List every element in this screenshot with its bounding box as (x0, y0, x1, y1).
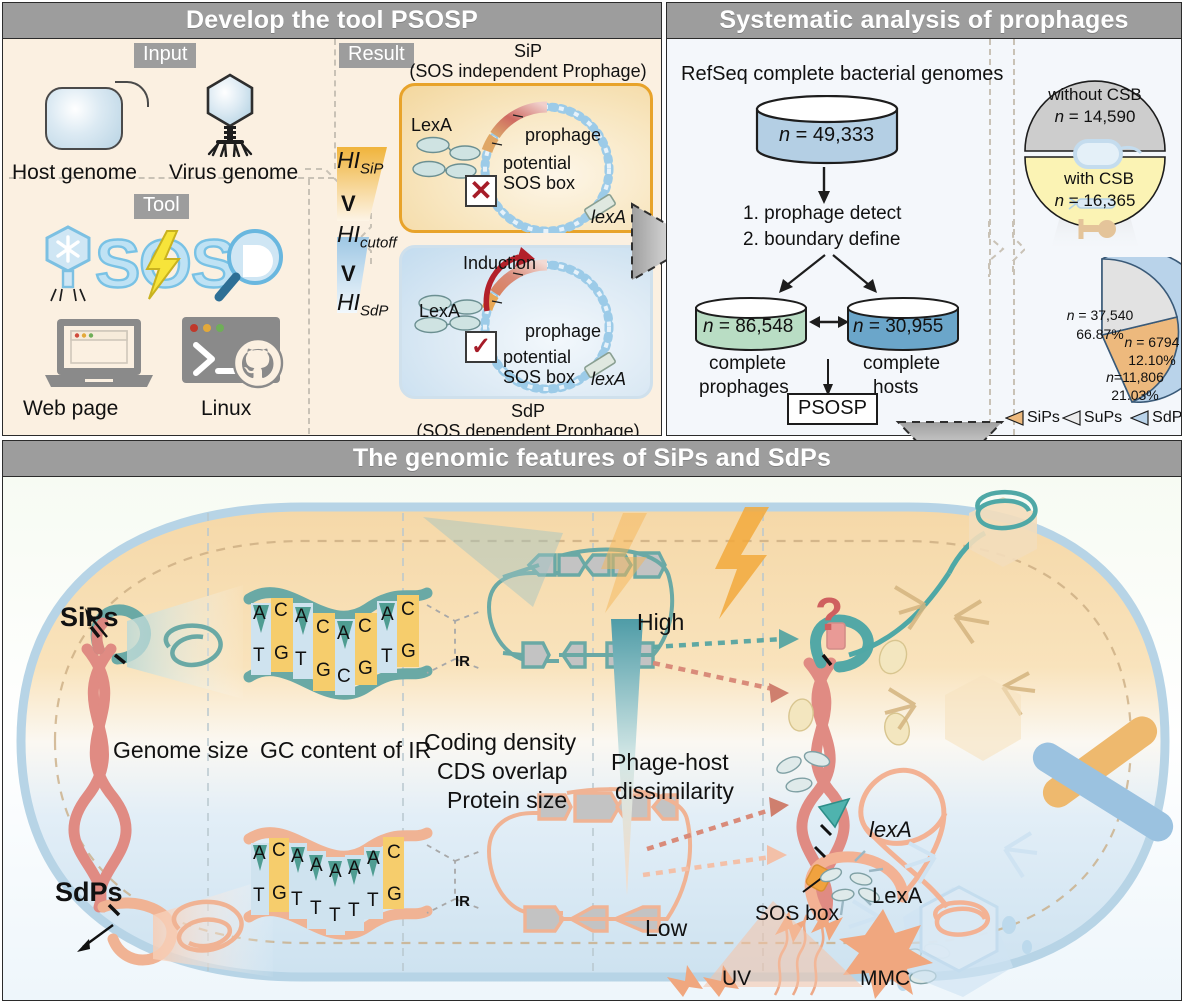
dna-bot-lower-5: T (348, 900, 360, 922)
sdp-prophage-label: prophage (525, 321, 601, 342)
gc-content-label: GC content of IR (260, 737, 431, 764)
sdp-subtitle: (SOS dependent Prophage) (393, 421, 661, 435)
dna-bot-upper-4: A (329, 861, 342, 883)
web-page-label: Web page (23, 397, 118, 421)
sdp-sosbox-label-1: potential (503, 347, 571, 368)
panel-systematic-analysis: Systematic analysis of prophages RefSeq … (666, 2, 1182, 436)
arrow-double-cylinders (809, 313, 849, 331)
dna-top-upper-1: C (274, 600, 288, 622)
pie-sips-n: n=11,806 (1087, 369, 1181, 385)
virus-genome-label: Virus genome (169, 161, 298, 185)
web-page-laptop-icon (41, 317, 157, 391)
source-n-label: nn = 49,333 = 49,333 (779, 124, 874, 147)
panel-develop-title: Develop the tool PSOSP (3, 3, 661, 39)
panel-genomic-features: The genomic features of SiPs and SdPs (2, 440, 1182, 1001)
dna-bot-lower-3: T (310, 898, 322, 920)
ir-label-bottom: IR (455, 893, 470, 910)
gt-symbol-2: V (341, 261, 356, 287)
csb-without-n: n = 14,590 (1035, 107, 1155, 127)
csb-split-circle (1015, 53, 1175, 253)
sdp-sosbox-label-2: SOS box (503, 367, 575, 388)
legend-sups-swatch-icon (1062, 410, 1082, 426)
sdp-lexa-label: LexA (419, 301, 460, 322)
dna-top-lower-3: G (316, 660, 331, 682)
host-genome-tail-icon (115, 81, 149, 107)
question-mark-icon: ? (815, 587, 843, 641)
sip-subtitle: (SOS independent Prophage) (393, 61, 661, 82)
ir-label-top: IR (455, 653, 470, 670)
sdp-title: SdP (403, 401, 653, 422)
dissimilarity-label-2: dissimilarity (615, 778, 734, 805)
dna-top-upper-5: C (358, 616, 372, 638)
panel-genomic-body: SiPs SdPs Genome size GC content of IR I… (3, 477, 1181, 1000)
dna-top-lower-4: C (337, 666, 351, 688)
sdps-label: SdPs (55, 877, 123, 908)
hi-sip-sub: SiP (360, 161, 383, 178)
cds-overlap-label: CDS overlap (437, 758, 567, 785)
psosp-output-box: PSOSP (787, 393, 878, 425)
dna-top-lower-2: T (295, 649, 307, 671)
pie-sdps-n: n = 37,540 (1045, 307, 1155, 323)
psosp-logo: S O S (33, 221, 305, 305)
sip-lexa-gene-label: lexA (591, 207, 626, 228)
dna-bot-lower-0: T (253, 885, 265, 907)
sdp-check-mark-icon: ✓ (465, 331, 497, 363)
panel-develop-tool: Develop the tool PSOSP Input Host genome (2, 2, 662, 436)
dna-bot-upper-3: A (310, 855, 323, 877)
dna-top-lower-6: T (381, 646, 393, 668)
hi-sip-text: HI (337, 147, 360, 173)
dna-bot-lower-7: G (387, 884, 402, 906)
dna-top-lower-1: G (274, 643, 289, 665)
protein-size-label: Protein size (447, 787, 567, 814)
dna-bot-lower-1: G (272, 883, 287, 905)
dna-bot-lower-4: T (329, 905, 341, 927)
sos-box-label: SOS box (755, 902, 839, 926)
panel-develop-body: Input Host genome Virus g (3, 39, 661, 435)
dna-bot-upper-1: C (272, 840, 286, 862)
dna-top-upper-2: A (295, 606, 308, 628)
prophages-label-2: prophages (699, 377, 789, 399)
pie-legend: SiPs SuPs SdPs (1005, 409, 1181, 427)
csb-with-n: n = 16,365 (1035, 191, 1155, 211)
hi-sip-label: HISiP (337, 147, 383, 178)
panel-systematic-body: RefSeq complete bacterial genomes nn = 4… (667, 39, 1181, 435)
pie-sips-percent: 21.03% (1087, 387, 1181, 403)
input-section-label: Input (134, 43, 196, 68)
gt-symbol-1: V (341, 191, 356, 217)
legend-sdps-label: SdPs (1152, 409, 1181, 427)
dna-top-upper-3: C (316, 617, 330, 639)
sip-cross-mark-icon: ✕ (465, 175, 497, 207)
csb-with-label: with CSB (1039, 169, 1159, 189)
panel-systematic-title: Systematic analysis of prophages (667, 3, 1181, 39)
hosts-label-1: complete (863, 353, 940, 375)
sip-sosbox-label-1: potential (503, 153, 571, 174)
csb-without-label: without CSB (1035, 85, 1155, 105)
prophages-n-label: n = 86,548 (703, 316, 793, 338)
legend-sips-label: SiPs (1027, 409, 1060, 427)
coding-density-label: Coding density (424, 729, 576, 756)
lexa-protein-label: LexA (872, 883, 922, 909)
dna-top-upper-7: C (401, 599, 415, 621)
dna-bot-lower-2: T (291, 889, 303, 911)
host-genome-label: Host genome (12, 161, 137, 185)
pie-sups-n: n = 6794 (1113, 334, 1181, 350)
sip-prophage-label: prophage (525, 125, 601, 146)
sdp-lexa-gene-label: lexA (591, 369, 626, 390)
hi-cutoff-text: HI (337, 221, 360, 247)
sip-lexa-label: LexA (411, 115, 452, 136)
uv-label: UV (722, 967, 751, 991)
lexa-gene-label: lexA (869, 817, 912, 843)
dna-bot-lower-6: T (367, 890, 379, 912)
high-label: High (637, 609, 684, 636)
legend-sups-label: SuPs (1084, 409, 1122, 427)
hosts-label-2: hosts (873, 377, 918, 399)
virus-genome-phage-icon (191, 71, 269, 157)
dna-top-upper-0: A (253, 603, 266, 625)
arrow-split (767, 253, 887, 297)
refseq-source-label: RefSeq complete bacterial genomes (681, 63, 1003, 86)
sip-title: SiP (403, 41, 653, 62)
dna-top-lower-7: G (401, 641, 416, 663)
dna-bot-upper-2: A (291, 846, 304, 868)
dna-bot-upper-0: A (253, 843, 266, 865)
dna-bot-upper-6: A (367, 848, 380, 870)
dna-top-lower-0: T (253, 645, 265, 667)
sip-sosbox-label-2: SOS box (503, 173, 575, 194)
genome-size-label: Genome size (113, 737, 249, 764)
dna-top-upper-4: A (337, 623, 350, 645)
hi-sdp-label: HISdP (337, 289, 388, 320)
hi-cutoff-label: HIcutoff (337, 221, 397, 252)
step1-label: 1. prophage detect (743, 203, 901, 225)
step2-label: 2. boundary define (743, 229, 900, 251)
pie-sups-percent: 12.10% (1113, 352, 1181, 368)
figure-root: Develop the tool PSOSP Input Host genome (0, 0, 1184, 1003)
hi-sdp-sub: SdP (360, 303, 388, 320)
arrow-down-1 (813, 167, 835, 205)
mmc-label: MMC (860, 967, 910, 991)
host-genome-icon (45, 87, 123, 150)
prophages-label-1: complete (709, 353, 786, 375)
linux-terminal-icon (178, 315, 294, 391)
hi-cutoff-sub: cutoff (360, 235, 397, 252)
hi-sdp-text: HI (337, 289, 360, 315)
legend-sdps-swatch-icon (1130, 410, 1150, 426)
dna-top-lower-5: G (358, 658, 373, 680)
hosts-n-label: n = 30,955 (853, 316, 943, 338)
sips-label: SiPs (60, 602, 119, 633)
linux-label: Linux (201, 397, 251, 421)
low-label: Low (645, 915, 687, 942)
tool-section-label: Tool (134, 194, 189, 219)
arrow-down-2 (817, 359, 839, 397)
dna-top-upper-6: A (381, 604, 394, 626)
svg-text:S: S (95, 226, 140, 302)
sdp-induction-label: Induction (463, 253, 536, 274)
dna-bot-upper-5: A (348, 858, 361, 880)
dissimilarity-label-1: Phage-host (611, 749, 729, 776)
panel-genomic-title: The genomic features of SiPs and SdPs (3, 441, 1181, 477)
dna-bot-upper-7: C (387, 842, 401, 864)
